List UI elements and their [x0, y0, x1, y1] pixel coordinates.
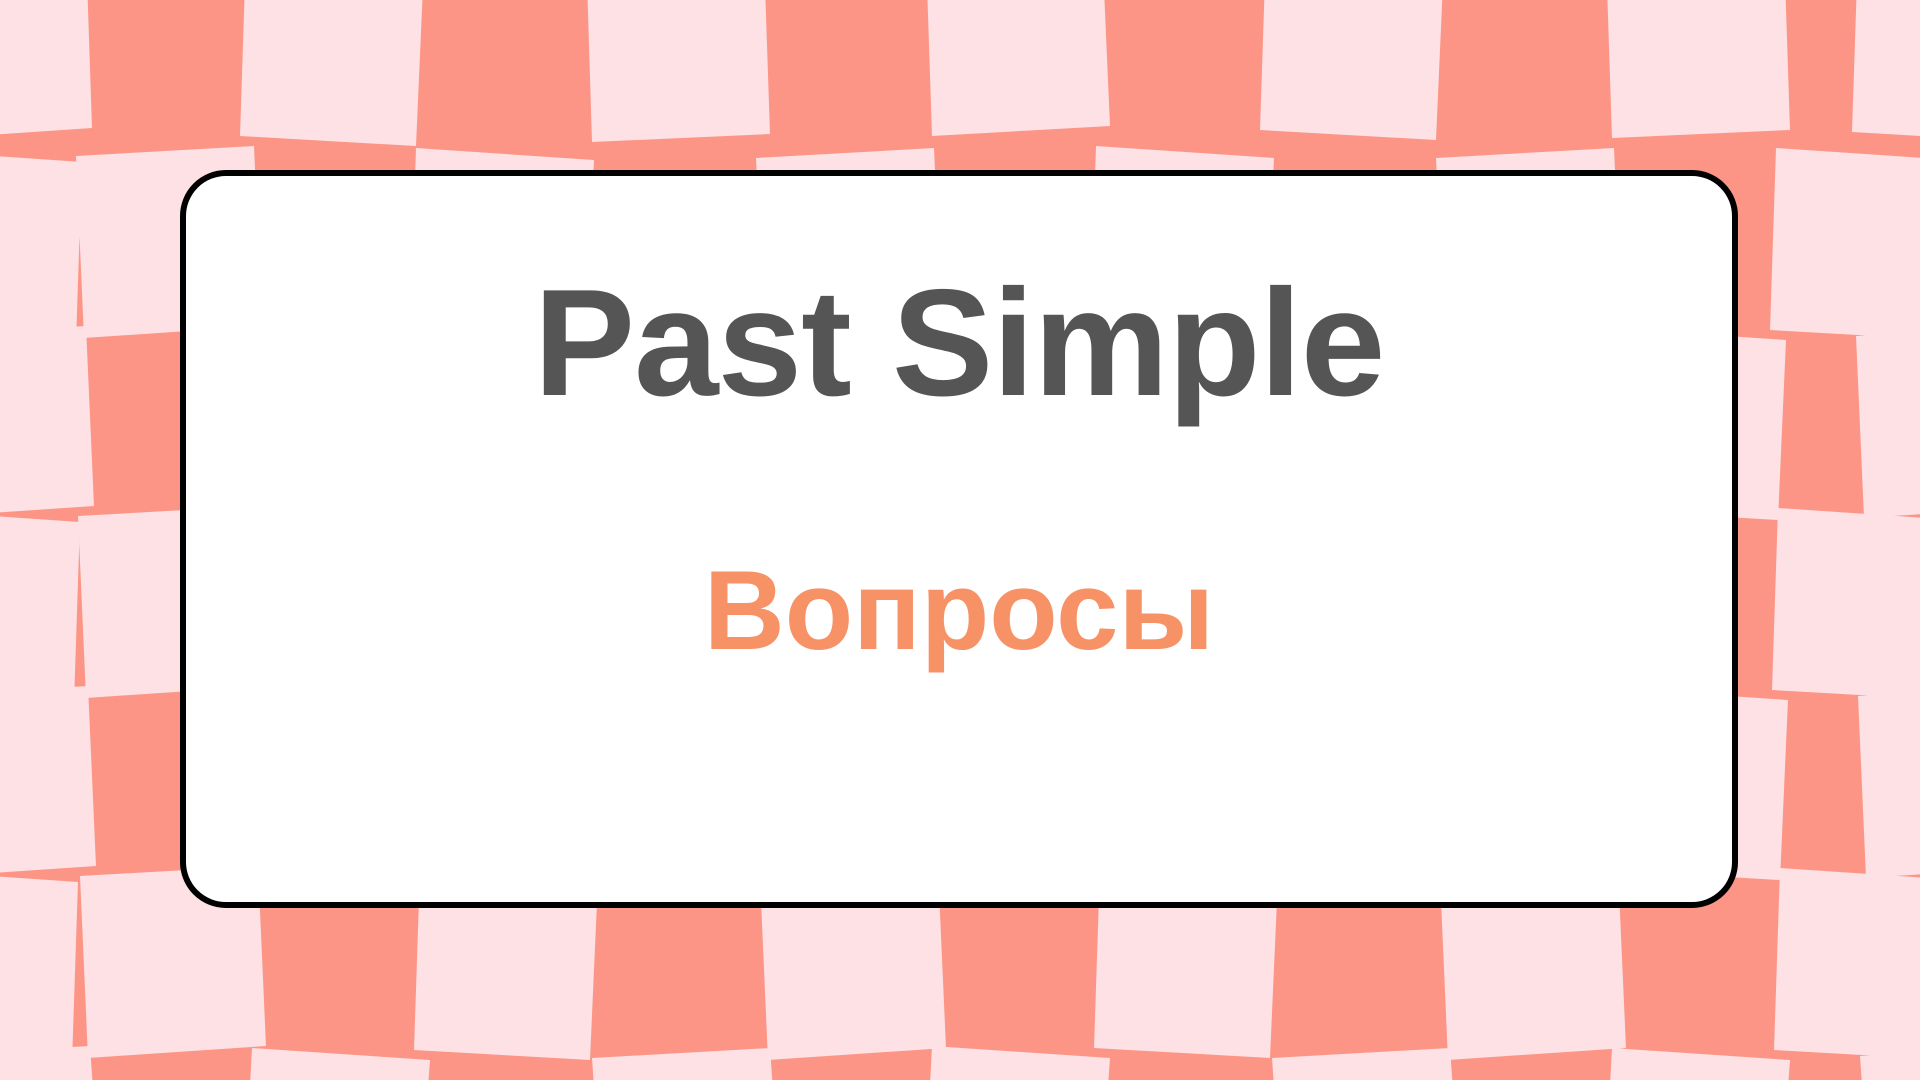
page-title: Past Simple	[534, 264, 1385, 424]
slide-canvas: Past Simple Вопросы	[0, 0, 1920, 1080]
title-card: Past Simple Вопросы	[180, 170, 1738, 908]
page-subtitle: Вопросы	[704, 552, 1214, 670]
